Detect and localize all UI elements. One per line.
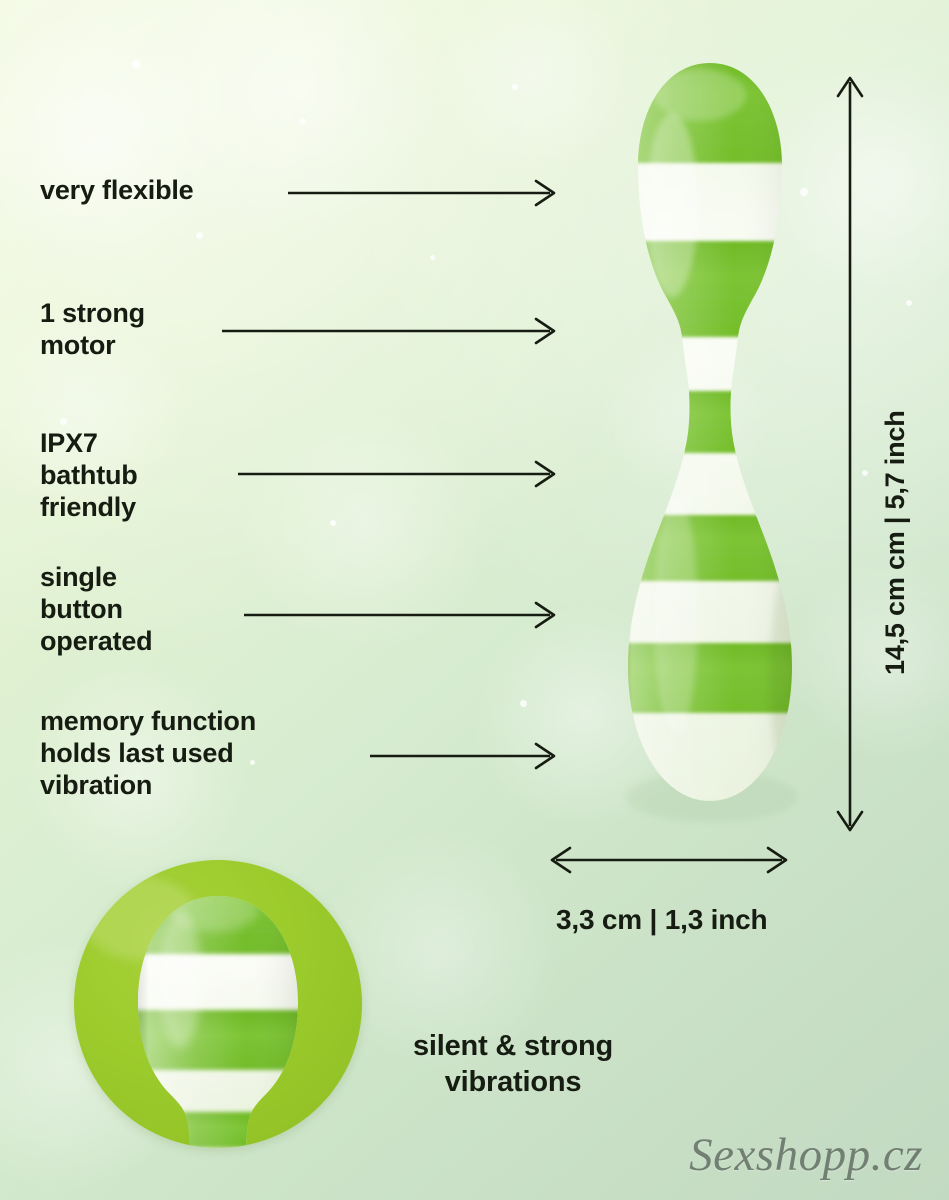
product-illustration — [560, 55, 860, 845]
sparkle-speck — [430, 255, 435, 260]
sparkle-speck — [196, 232, 203, 239]
pointer-arrow-memory-function — [370, 741, 568, 771]
sparkle-speck — [60, 418, 67, 425]
pointer-arrow-one-strong-motor — [222, 316, 568, 346]
feature-label-memory-function: memory function holds last used vibratio… — [40, 706, 256, 802]
product-detail-circle — [74, 860, 362, 1148]
bokeh-blob — [0, 10, 220, 270]
caption-silent-strong-vibrations: silent & strong vibrations — [378, 1028, 648, 1101]
dimension-label-width: 3,3 cm | 1,3 inch — [556, 904, 767, 936]
dimension-arrow-width — [548, 845, 792, 875]
dimension-label-length: 14,5 cm cm | 5,7 inch — [880, 411, 911, 676]
sparkle-speck — [512, 84, 518, 90]
feature-label-one-strong-motor: 1 strong motor — [40, 298, 145, 362]
infographic-page: very flexible 1 strong motor IPX7 bathtu… — [0, 0, 949, 1200]
sparkle-speck — [330, 520, 336, 526]
dimension-arrow-length — [834, 72, 866, 836]
product-detail-closeup — [74, 860, 362, 1148]
pointer-arrow-very-flexible — [288, 178, 568, 208]
feature-label-single-button-operated: single button operated — [40, 562, 152, 658]
feature-label-ipx7-bathtub-friendly: IPX7 bathtub friendly — [40, 428, 138, 524]
sparkle-speck — [906, 300, 912, 306]
sparkle-speck — [132, 60, 141, 69]
feature-label-very-flexible: very flexible — [40, 175, 194, 207]
sparkle-speck — [300, 118, 306, 124]
watermark-logo: Sexshopp.cz — [689, 1128, 923, 1182]
pointer-arrow-ipx7 — [238, 459, 568, 489]
pointer-arrow-single-button — [244, 600, 568, 630]
sparkle-speck — [520, 700, 527, 707]
